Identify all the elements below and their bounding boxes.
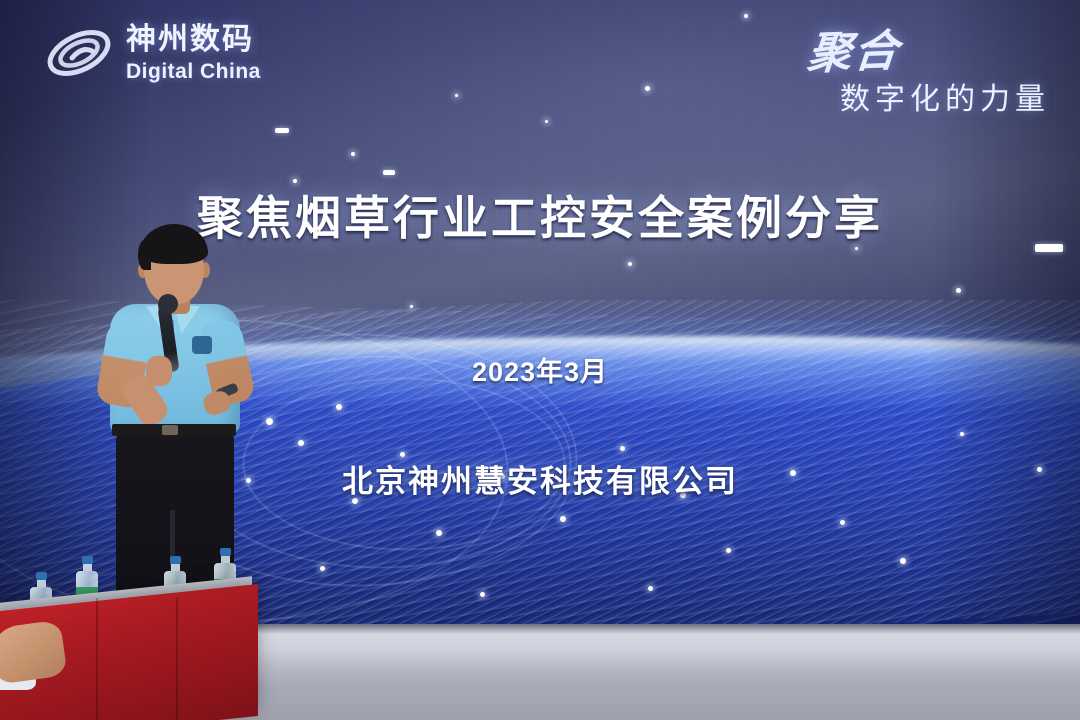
particle [383, 170, 395, 175]
particle [545, 120, 548, 123]
bottle-cap [82, 556, 93, 564]
digital-china-swirl-icon [44, 22, 114, 84]
presenter-hair-side [138, 240, 151, 270]
particle [628, 262, 632, 266]
bottle-cap [220, 548, 231, 556]
presenter [96, 224, 286, 624]
presenter-belt-buckle [162, 425, 178, 435]
slogan-calligraphy: 聚合 [805, 14, 903, 81]
bottle-cap [36, 572, 47, 580]
slogan-subtitle: 数字化的力量 [808, 74, 1050, 118]
presenter-left-hand [146, 356, 172, 386]
event-slogan: 聚合 数字化的力量 [808, 16, 1050, 118]
presenter-shirt-logo [192, 336, 212, 354]
bottle-neck [37, 580, 46, 587]
digital-china-logo: 神州数码 Digital China [44, 22, 261, 84]
brand-name-en: Digital China [126, 61, 261, 82]
bottle-neck [171, 564, 180, 571]
brand-name-cn: 神州数码 [126, 25, 261, 55]
bottle-neck [221, 556, 230, 563]
bottle-neck [83, 564, 92, 571]
particle [956, 288, 961, 293]
particle [351, 152, 355, 156]
table-cloth-fold [176, 598, 178, 720]
bottle-cap [170, 556, 181, 564]
particle [744, 14, 748, 18]
particle [455, 94, 458, 97]
table-cloth-fold [96, 598, 98, 720]
conference-photo: 神州数码 Digital China 聚合 数字化的力量 聚焦烟草行业工控安全案… [0, 0, 1080, 720]
particle [275, 128, 289, 133]
particle [645, 86, 650, 91]
